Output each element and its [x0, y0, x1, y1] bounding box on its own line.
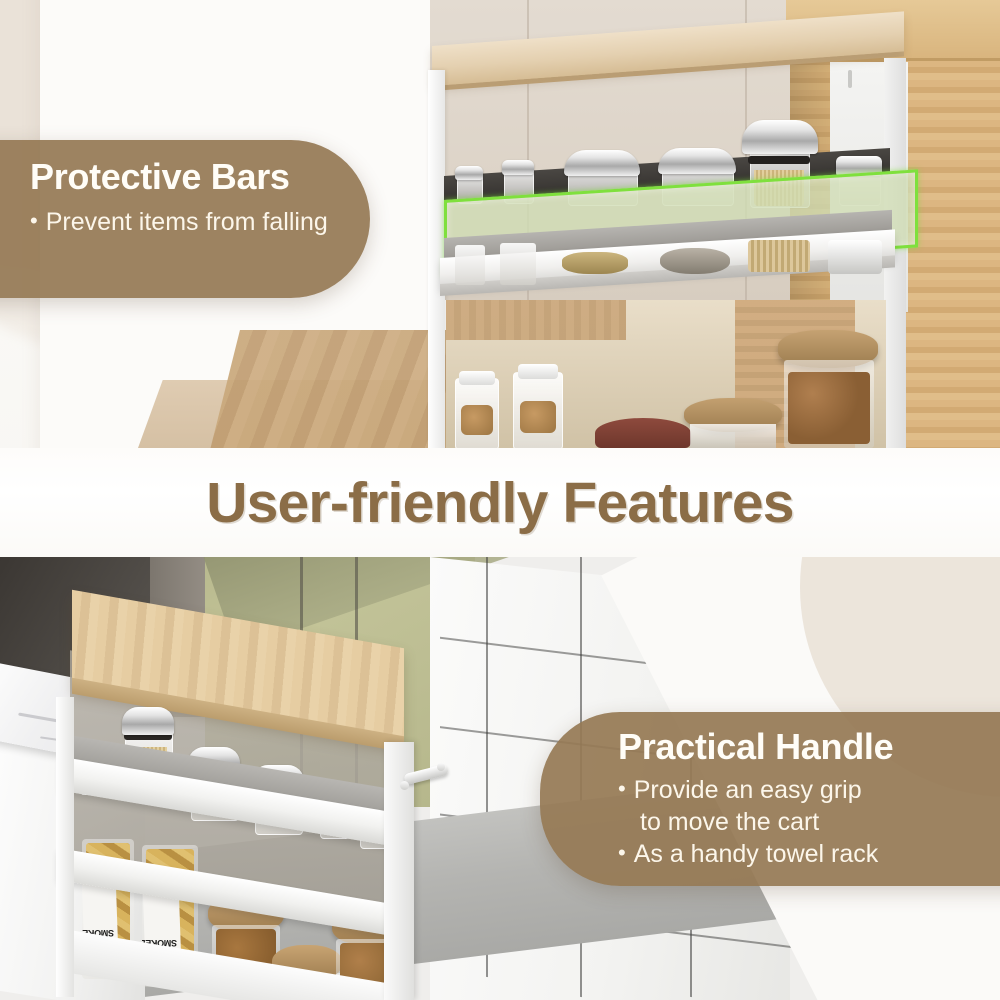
- callout-bullet-practical-handle-1: • Provide an easy grip: [618, 774, 1000, 806]
- cart-handle-mount-1: [400, 781, 409, 790]
- bullet-dot-icon: •: [618, 838, 626, 870]
- hook-1: [848, 70, 852, 88]
- jar-nuts-1: [455, 378, 499, 448]
- callout-bullet-practical-handle-2: • As a handy towel rack: [618, 838, 1000, 870]
- callout-bullet-text: Prevent items from falling: [46, 206, 328, 238]
- callout-bullet-text: to move the cart: [640, 806, 819, 838]
- noodle-jar-under: [748, 240, 810, 272]
- jar-nuts-2: [513, 372, 563, 448]
- callout-bullet-text: Provide an easy grip: [634, 774, 862, 806]
- jar-body-1: [690, 424, 776, 448]
- jar-body-2: [784, 360, 874, 448]
- jar-under-2: [500, 243, 536, 285]
- cart-frame-left: [56, 697, 74, 997]
- lower-tier-wood-left: [446, 300, 626, 340]
- callout-bullet-practical-handle-1-cont: to move the cart: [618, 806, 1000, 838]
- oak-panel-right: [905, 0, 1000, 448]
- callout-practical-handle: Practical Handle • Provide an easy grip …: [540, 712, 1000, 886]
- infographic-page: User-friendly Features: [0, 0, 1000, 1000]
- bullet-dot-icon: •: [618, 774, 626, 806]
- callout-title-protective-bars: Protective Bars: [30, 158, 370, 197]
- center-banner: User-friendly Features: [0, 448, 1000, 557]
- lid-brown-1: [562, 252, 628, 274]
- callout-title-practical-handle: Practical Handle: [618, 728, 1000, 767]
- red-lid-jar: [595, 418, 691, 448]
- lid-stone-1: [660, 248, 730, 274]
- bullet-dot-icon: •: [30, 206, 38, 238]
- callout-bullet-protective-bars-1: • Prevent items from falling: [30, 206, 370, 238]
- cart-handle-mount-2: [437, 763, 445, 771]
- jar-chrome-under: [828, 240, 882, 274]
- callout-protective-bars: Protective Bars • Prevent items from fal…: [0, 140, 370, 298]
- page-title: User-friendly Features: [206, 470, 793, 536]
- jar-under-1: [455, 245, 485, 285]
- callout-bullet-text: As a handy towel rack: [634, 838, 879, 870]
- jar-small-1: [455, 166, 483, 200]
